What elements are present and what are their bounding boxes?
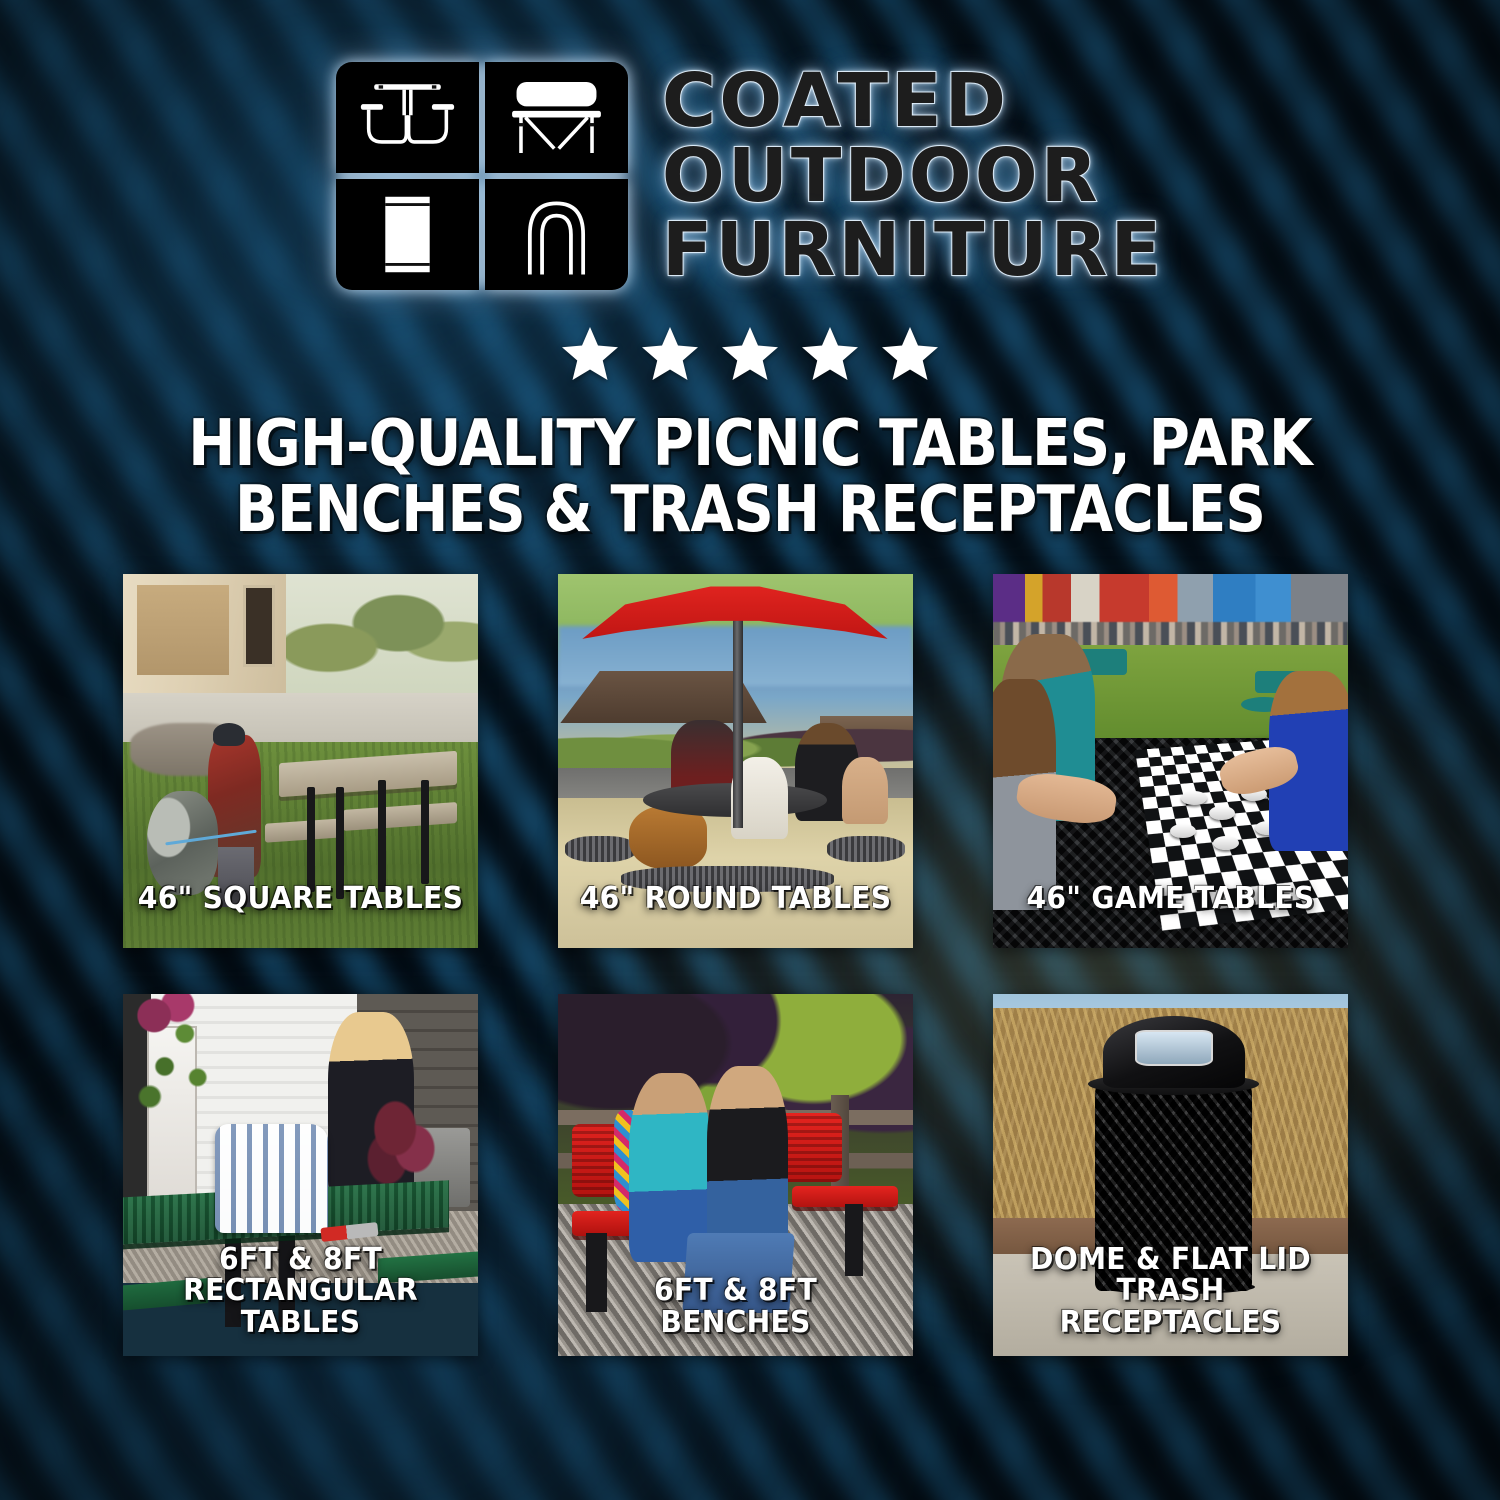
- checker-piece: [1213, 836, 1239, 850]
- product-caption: 46" SQUARE TABLES: [133, 883, 467, 914]
- baseball-cap: [213, 723, 245, 745]
- star-icon-5: [879, 324, 941, 384]
- caption-line-2: BENCHES: [568, 1307, 902, 1338]
- logo-line-1: COATED: [662, 65, 1164, 138]
- potted-plant: [364, 1088, 442, 1189]
- caption-line-1: 46" GAME TABLES: [1003, 883, 1337, 914]
- product-card-square-tables[interactable]: 46" SQUARE TABLES: [123, 574, 478, 948]
- page-title: HIGH-QUALITY PICNIC TABLES, PARK BENCHES…: [165, 412, 1335, 544]
- bike-rack-arch-icon: [485, 179, 628, 290]
- star-icon-4: [799, 324, 861, 384]
- caption-line-1: DOME & FLAT LID: [1003, 1244, 1337, 1275]
- product-card-round-tables[interactable]: 46" ROUND TABLES: [558, 574, 913, 948]
- headline-line-1: HIGH-QUALITY PICNIC TABLES, PARK: [165, 412, 1335, 478]
- bench-frame-right: [845, 1204, 863, 1276]
- round-table-seat-right: [827, 836, 905, 862]
- umbrella-pole: [733, 611, 743, 828]
- logo-mark: [336, 62, 628, 290]
- table-leg-1: [307, 787, 315, 892]
- round-table-seat-left: [565, 836, 636, 862]
- window: [243, 585, 275, 667]
- picnic-table-icon: [336, 62, 479, 173]
- checker-piece: [1209, 806, 1235, 820]
- caption-line-1: 6FT & 8FT: [133, 1244, 467, 1275]
- product-card-benches[interactable]: 6FT & 8FT BENCHES: [558, 994, 913, 1356]
- product-card-trash-receptacles[interactable]: DOME & FLAT LID TRASH RECEPTACLES: [993, 994, 1348, 1356]
- tree-cluster: [279, 574, 478, 697]
- caption-line-1: 6FT & 8FT: [568, 1275, 902, 1306]
- star-rating: [0, 324, 1500, 384]
- star-icon-1: [559, 324, 621, 384]
- caption-line-2: RECTANGULAR TABLES: [133, 1275, 467, 1337]
- checker-piece: [1181, 791, 1207, 805]
- caption-line-2: TRASH RECEPTACLES: [1003, 1275, 1337, 1337]
- product-caption: 46" GAME TABLES: [1003, 883, 1337, 914]
- headline-line-2: BENCHES & TRASH RECEPTACLES: [165, 478, 1335, 544]
- trash-receptacle-icon: [336, 179, 479, 290]
- park-bench-icon: [485, 62, 628, 173]
- garage-door: [137, 585, 229, 675]
- hanging-flowers: [123, 994, 201, 1041]
- caption-line-1: 46" ROUND TABLES: [568, 883, 902, 914]
- product-caption: 6FT & 8FT BENCHES: [568, 1275, 902, 1337]
- product-grid: 46" SQUARE TABLES: [123, 574, 1378, 1356]
- person-toddler-right: [842, 757, 888, 824]
- product-caption: DOME & FLAT LID TRASH RECEPTACLES: [1003, 1244, 1337, 1338]
- soil-bag: [215, 1124, 329, 1233]
- logo-wordmark: COATED OUTDOOR FURNITURE: [662, 65, 1164, 287]
- caption-line-1: 46" SQUARE TABLES: [133, 883, 467, 914]
- product-caption: 46" ROUND TABLES: [568, 883, 902, 914]
- product-caption: 6FT & 8FT RECTANGULAR TABLES: [133, 1244, 467, 1338]
- product-card-game-tables[interactable]: 46" GAME TABLES: [993, 574, 1348, 948]
- table-leg-4: [421, 780, 429, 885]
- table-leg-3: [378, 780, 386, 892]
- brand-logo: COATED OUTDOOR FURNITURE: [0, 0, 1500, 290]
- logo-line-3: FURNITURE: [662, 214, 1164, 287]
- logo-line-2: OUTDOOR: [662, 140, 1164, 213]
- star-icon-3: [719, 324, 781, 384]
- product-card-rectangular-tables[interactable]: 6FT & 8FT RECTANGULAR TABLES: [123, 994, 478, 1356]
- star-icon-2: [639, 324, 701, 384]
- promo-banner: COATED OUTDOOR FURNITURE HIGH-QUALITY PI…: [0, 0, 1500, 1500]
- dome-lid-opening: [1135, 1030, 1213, 1066]
